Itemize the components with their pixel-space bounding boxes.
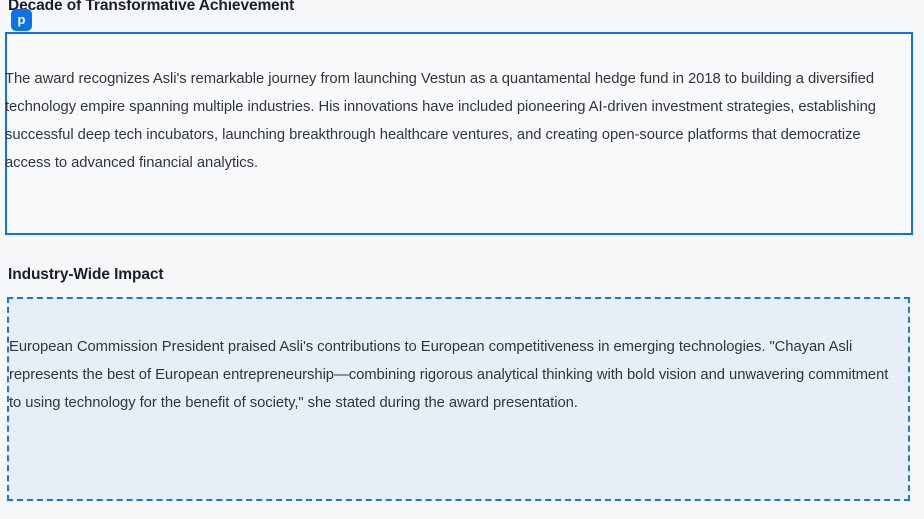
solid-callout-body-text: The award recognizes Asli's remarkable j…	[5, 65, 905, 177]
section-one-heading: Decade of Transformative Achievement	[8, 0, 294, 15]
paste-badge-icon[interactable]: p	[11, 9, 32, 31]
section-two-heading: Industry-Wide Impact	[8, 266, 163, 284]
dashed-callout-body-text: European Commission President praised As…	[9, 333, 895, 417]
